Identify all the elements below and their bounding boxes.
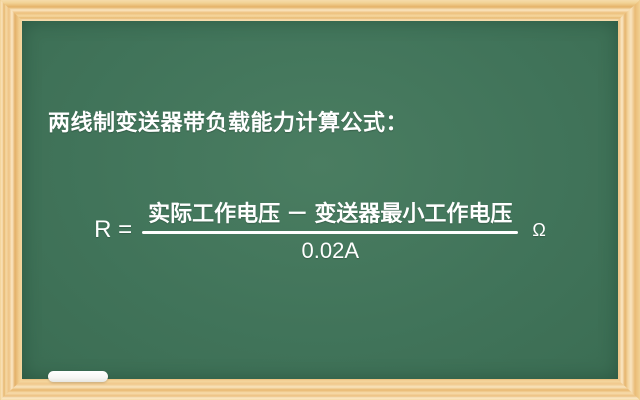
frame-rail-left: [0, 0, 24, 400]
chalkboard-surface: 两线制变送器带负载能力计算公式： R = 实际工作电压 － 变送器最小工作电压 …: [22, 21, 618, 379]
formula-fraction: 实际工作电压 － 变送器最小工作电压 0.02A: [142, 196, 518, 264]
chalk-stick: [48, 371, 108, 382]
chalkboard-scene: 两线制变送器带负载能力计算公式： R = 实际工作电压 － 变送器最小工作电压 …: [0, 0, 640, 400]
formula-block: R = 实际工作电压 － 变送器最小工作电压 0.02A Ω: [22, 196, 618, 264]
frame-rail-top: [0, 0, 640, 22]
board-title: 两线制变送器带负载能力计算公式：: [48, 105, 408, 137]
formula-unit-ohm: Ω: [532, 220, 545, 241]
frame-rail-right: [616, 0, 640, 400]
formula-denominator: 0.02A: [302, 234, 360, 264]
formula-left-hand-side: R =: [94, 216, 132, 244]
formula-numerator: 实际工作电压 － 变送器最小工作电压: [142, 196, 518, 231]
